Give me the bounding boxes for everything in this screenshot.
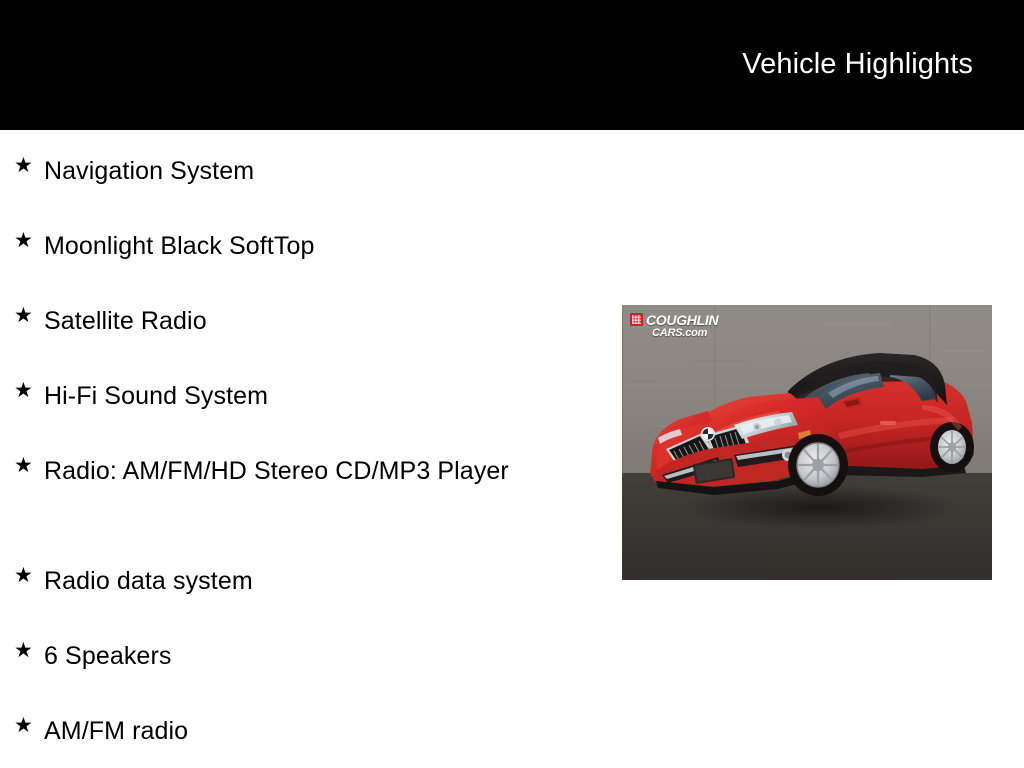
list-item: ★ Moonlight Black SoftTop: [0, 205, 600, 280]
list-item: ★ 6 Speakers: [0, 615, 600, 690]
vehicle-photo: COUGHLIN CARS.com: [622, 305, 992, 580]
highlight-label: Hi-Fi Sound System: [44, 355, 600, 413]
star-icon: ★: [14, 456, 34, 478]
highlight-label: Satellite Radio: [44, 280, 600, 338]
star-icon: ★: [14, 641, 34, 663]
page-title: Vehicle Highlights: [742, 50, 973, 79]
highlight-label: Navigation System: [44, 130, 600, 188]
list-item: ★ Satellite Radio: [0, 280, 600, 355]
highlight-label: Moonlight Black SoftTop: [44, 205, 600, 263]
list-item: ★ AM/FM radio: [0, 690, 600, 765]
vehicle-photo-image: [622, 305, 992, 580]
highlight-label: 6 Speakers: [44, 615, 600, 673]
highlight-label: Radio: AM/FM/HD Stereo CD/MP3 Player: [44, 430, 514, 488]
highlight-label: AM/FM radio: [44, 690, 600, 748]
star-icon: ★: [14, 716, 34, 738]
star-icon: ★: [14, 156, 34, 178]
star-icon: ★: [14, 566, 34, 588]
list-item: ★ Radio: AM/FM/HD Stereo CD/MP3 Player: [0, 430, 600, 540]
list-item: ★ Navigation System: [0, 130, 600, 205]
star-icon: ★: [14, 231, 34, 253]
star-icon: ★: [14, 381, 34, 403]
list-item: ★ Radio data system: [0, 540, 600, 615]
vehicle-highlights-list: ★ Navigation System ★ Moonlight Black So…: [0, 130, 600, 765]
star-icon: ★: [14, 306, 34, 328]
header-band: Vehicle Highlights: [0, 0, 1024, 130]
list-item: ★ Hi-Fi Sound System: [0, 355, 600, 430]
highlight-label: Radio data system: [44, 540, 600, 598]
